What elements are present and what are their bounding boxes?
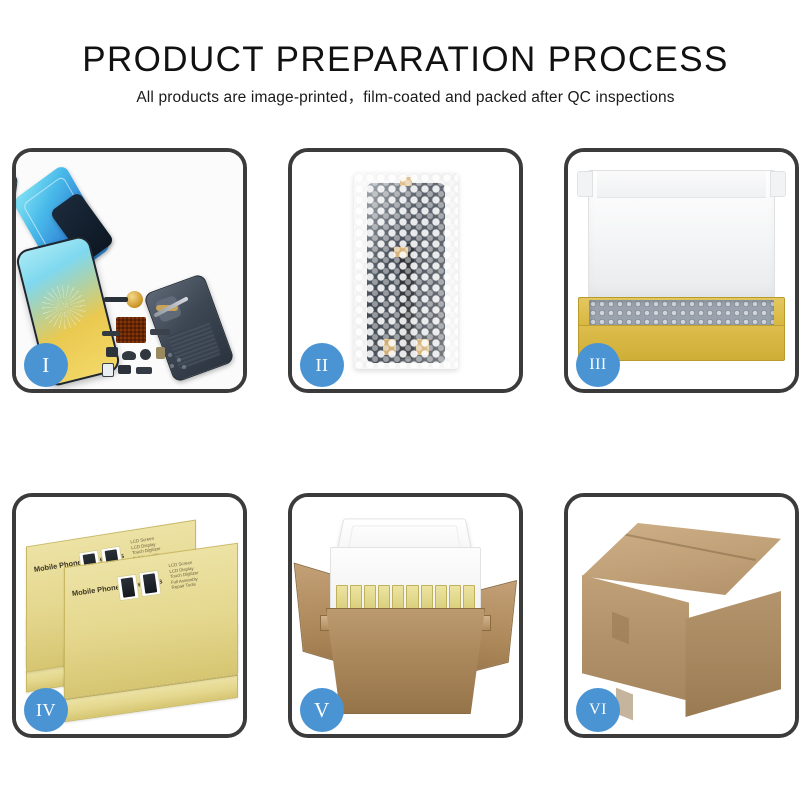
lid-tab-left-icon [577, 171, 593, 197]
chip-board-icon [116, 317, 146, 343]
box-lid-icon [588, 170, 775, 300]
step-badge-5: V [300, 688, 344, 732]
speaker-part-icon [122, 351, 136, 360]
open-kraft-box-icon [578, 170, 785, 361]
camera-lens-icon [126, 291, 143, 308]
page-subtitle: All products are image-printed，film-coat… [0, 87, 811, 109]
small-part-2-icon [118, 365, 131, 374]
carton-right-face-icon [685, 591, 781, 717]
step-badge-6: VI [576, 688, 620, 732]
process-row-bottom: Mobile Phone Spare Parts LCD Screen LCD … [0, 493, 811, 738]
page-header: PRODUCT PREPARATION PROCESS All products… [0, 0, 811, 109]
process-row-top: I [0, 148, 811, 393]
flex-cable-3-icon [150, 329, 170, 335]
battery-connector-icon [156, 347, 165, 359]
step-panel-5[interactable]: V [288, 493, 523, 738]
bubble-wrap-fill-icon [589, 300, 774, 328]
step-panel-4[interactable]: Mobile Phone Spare Parts LCD Screen LCD … [12, 493, 247, 738]
step-panel-1[interactable]: I [12, 148, 247, 393]
small-part-3-icon [136, 367, 152, 374]
step-panel-3[interactable]: III [564, 148, 799, 393]
button-part-icon [140, 349, 151, 360]
lid-tab-right-icon [770, 171, 786, 197]
small-part-1-icon [106, 347, 118, 357]
process-steps-grid: I [0, 148, 811, 738]
step-panel-6[interactable]: VI [564, 493, 799, 738]
cracked-glass-icon [37, 280, 90, 333]
spare-parts-group [100, 289, 192, 379]
step-badge-1: I [24, 343, 68, 387]
step-badge-2: II [300, 343, 344, 387]
step-panel-2[interactable]: II [288, 148, 523, 393]
carton-body-icon [326, 608, 485, 714]
page-title: PRODUCT PREPARATION PROCESS [0, 40, 811, 80]
screws-group-icon [168, 353, 188, 369]
flex-cable-1-icon [102, 331, 120, 336]
step-badge-3: III [576, 343, 620, 387]
sim-tray-icon [102, 363, 114, 377]
box-print-specs: LCD Screen LCD Display Touch Digitizer F… [168, 559, 200, 591]
sealed-carton-icon [582, 523, 781, 712]
part-bar-icon [104, 297, 128, 302]
plastic-sheen-icon [354, 173, 458, 369]
step-badge-4: IV [24, 688, 68, 732]
box-print-window-icon [138, 570, 161, 598]
carton-left-face-icon [582, 575, 689, 701]
box-print-window-icon [116, 574, 139, 602]
stacked-box-top-front-icon [64, 543, 238, 699]
carton-seam-icon [611, 531, 756, 561]
bubble-wrapped-screen-icon [354, 173, 458, 369]
